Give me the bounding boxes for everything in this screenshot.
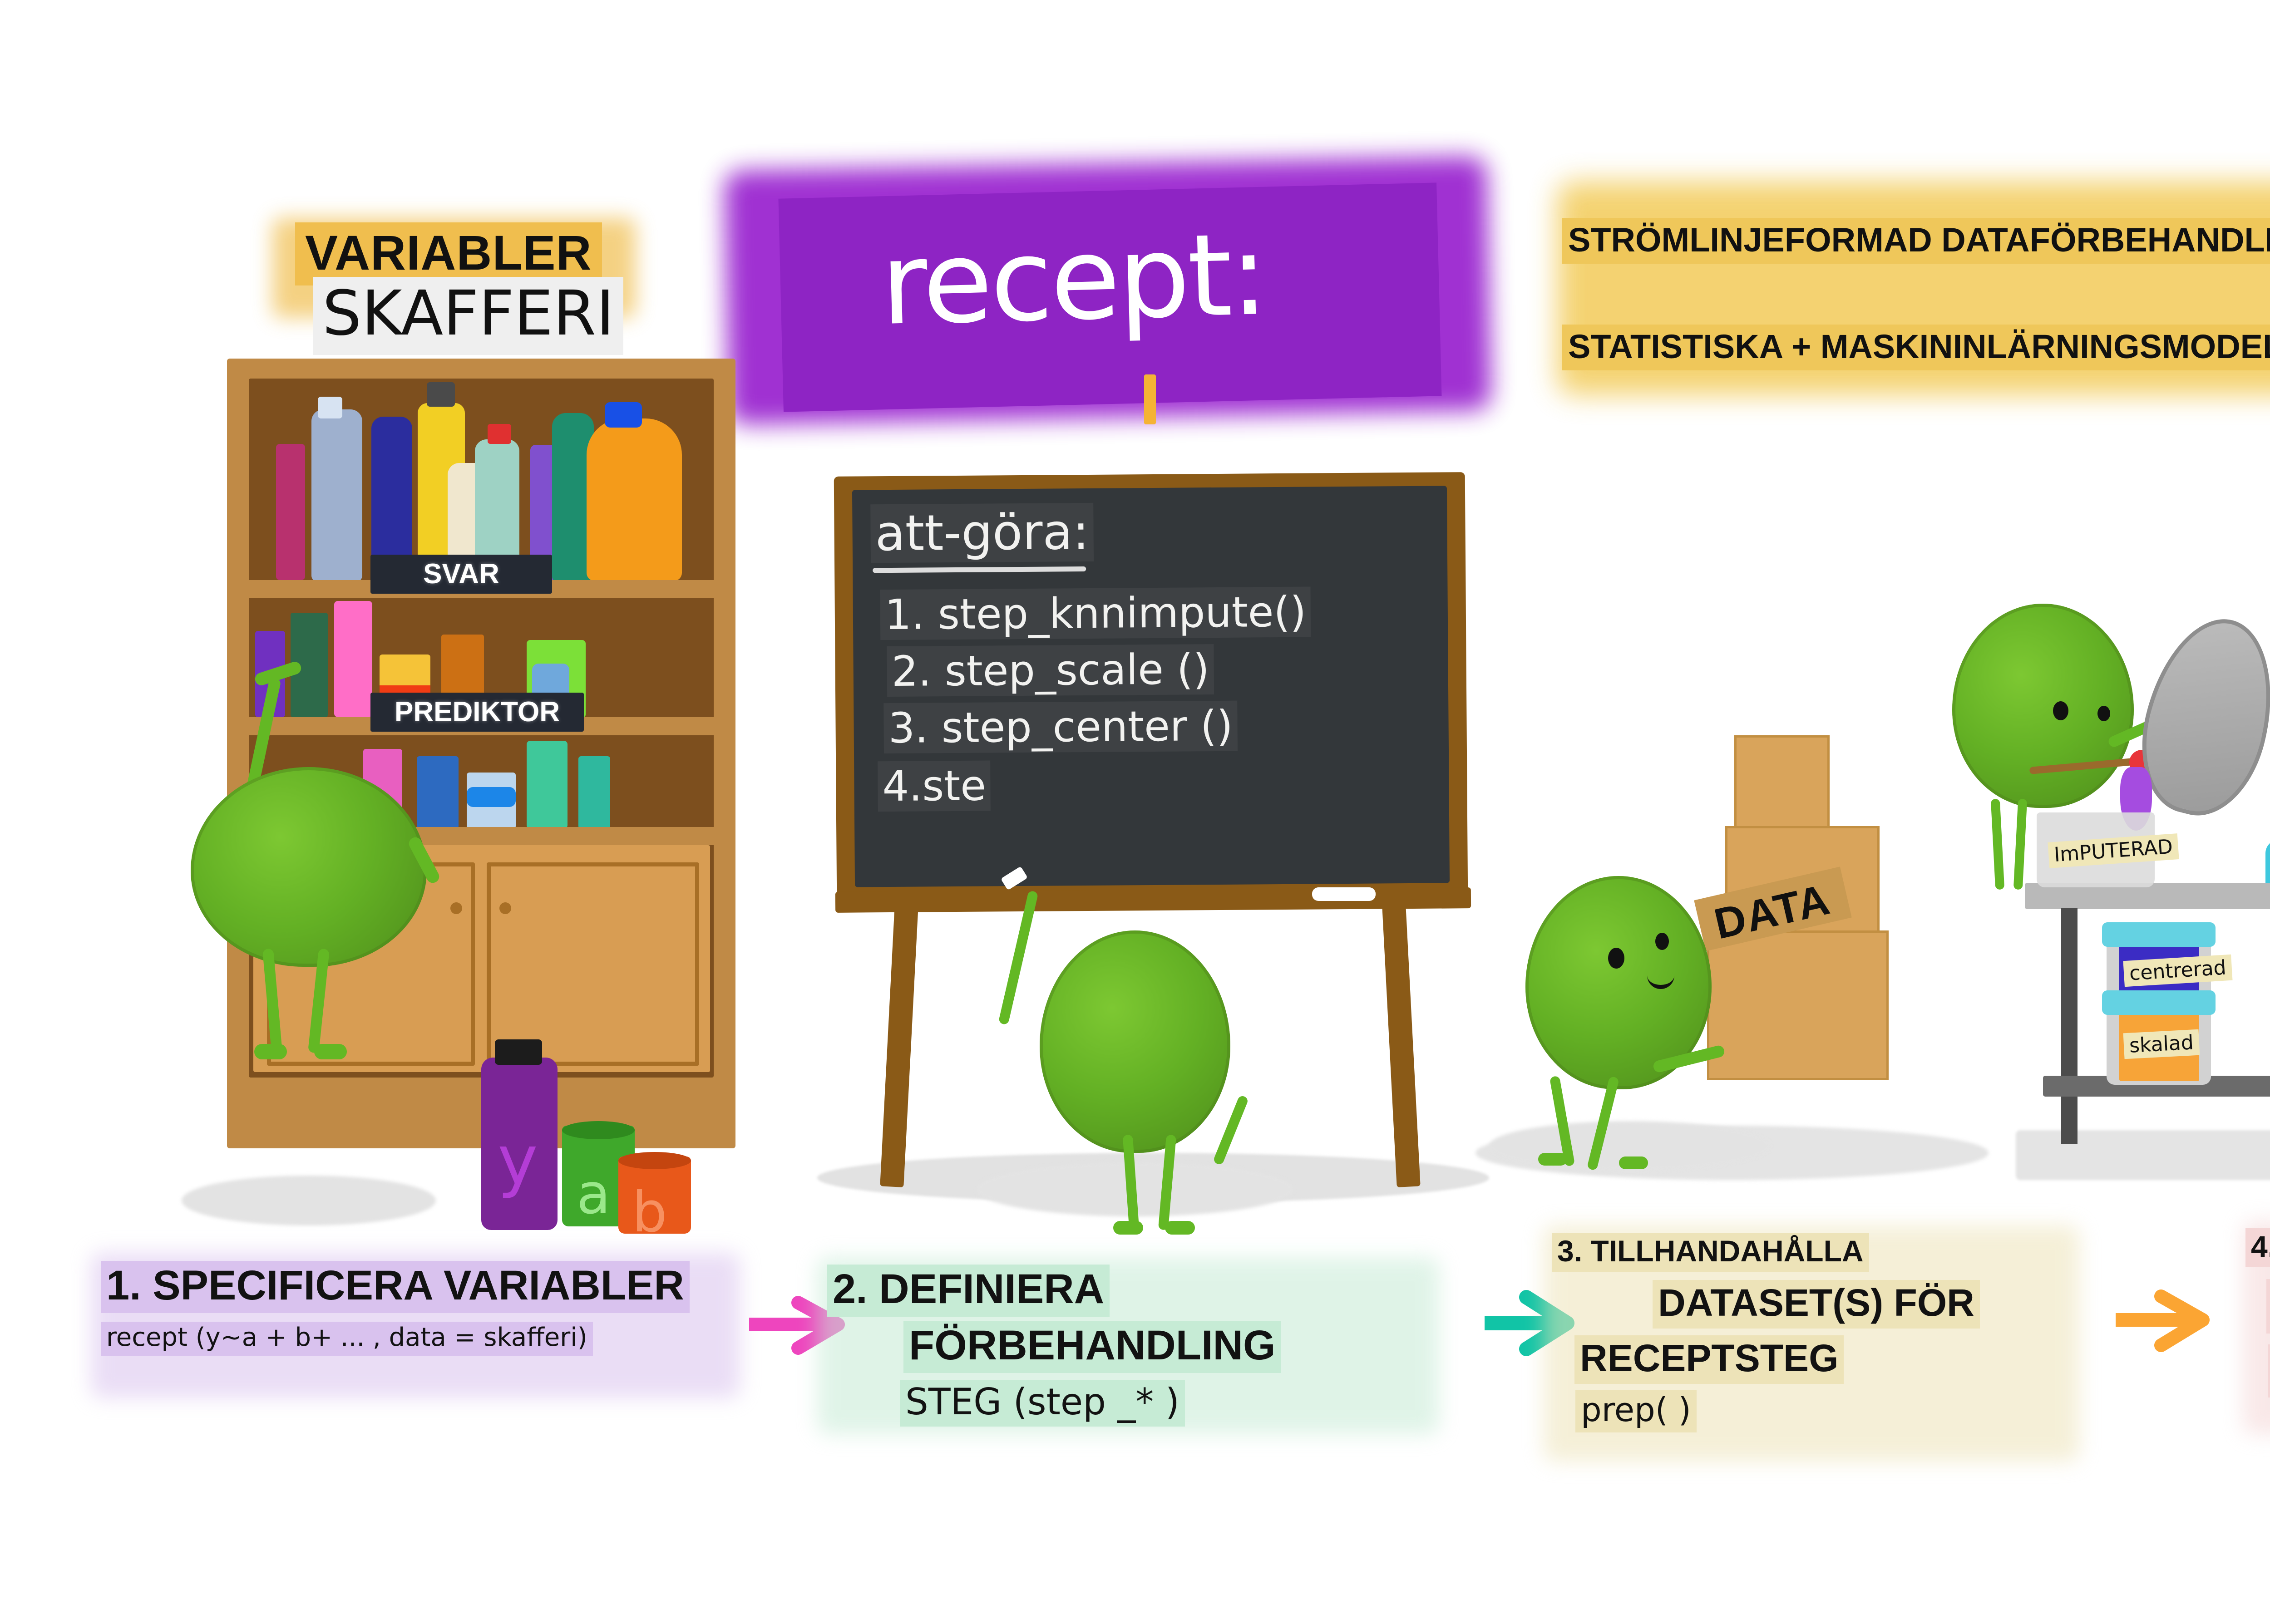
- monster-foot: [1113, 1221, 1143, 1235]
- floor-can-a-lid: [562, 1121, 635, 1139]
- data-box-bottom: [1707, 930, 1889, 1080]
- step-4-line-1: FÖRBEHANDLING!: [2266, 1279, 2270, 1334]
- tub-label-skalad: skalad: [2123, 1029, 2200, 1059]
- monster-eye: [1655, 933, 1669, 950]
- step-3-line-2: RECEPTSTEG: [1574, 1335, 1844, 1384]
- pantry-bottle-cap: [427, 382, 455, 407]
- monster-leg: [2013, 799, 2027, 890]
- floor-bottle-y-cap: [495, 1039, 542, 1065]
- floor-can-label-b: b: [632, 1180, 667, 1245]
- step-2-line-1: FÖRBEHANDLING: [903, 1321, 1281, 1373]
- pantry-item: [417, 756, 459, 829]
- pantry-sign-variabler: VARIABLER: [295, 222, 602, 285]
- monster-foot: [314, 1044, 347, 1059]
- pantry-bottle-cap: [318, 397, 342, 418]
- cabinet-knob[interactable]: [450, 902, 462, 914]
- counter-leg: [2061, 908, 2078, 1144]
- pantry-bottle-cap: [488, 424, 511, 444]
- pantry-bottle: [276, 444, 305, 580]
- monster-foot: [1538, 1153, 1567, 1166]
- blackboard-ledge: [835, 887, 1471, 913]
- monster-eye: [2097, 706, 2110, 721]
- cabinet-knob[interactable]: [499, 902, 511, 914]
- blackboard-eraser[interactable]: [1312, 887, 1376, 901]
- blackboard-item-1: 1. step_knnimpute(): [880, 587, 1311, 640]
- subtitle-line-2: STATISTISKA + MASKININLÄRNINGSMODELLER: [1562, 325, 2270, 370]
- pantry-bottle-cap: [605, 402, 642, 428]
- blackboard-leg: [1382, 896, 1420, 1187]
- floor-can-b-lid: [618, 1152, 691, 1169]
- step-3-title: 3. TILLHANDAHÅLLA: [1552, 1233, 1869, 1272]
- step-3-line-3: prep( ): [1575, 1390, 1697, 1432]
- blackboard-underline: [873, 566, 1086, 573]
- pantry-item: [467, 787, 516, 807]
- arrow-3-to-4: [2116, 1284, 2229, 1357]
- step-4-title: 4. TILLÄMPA: [2245, 1228, 2270, 1267]
- pantry-sign-skafferi: SKAFFERI: [313, 277, 623, 355]
- step-3-line-1: DATASET(S) FÖR: [1653, 1280, 1980, 1329]
- shelf-label-prediktor: PREDIKTOR: [370, 693, 584, 732]
- step-4-line-2: bake (): [2268, 1344, 2270, 1398]
- floor-can-label-a: a: [577, 1162, 611, 1226]
- pantry-item: [578, 756, 610, 829]
- monster-eye: [2053, 701, 2068, 720]
- monster-eye: [1608, 948, 1624, 969]
- tub-centrerad-lid: [2102, 922, 2216, 947]
- data-box-top: [1734, 735, 1830, 835]
- subtitle-line-1: STRÖMLINJEFORMAD DATAFÖRBEHANDLING FÖR: [1562, 218, 2270, 264]
- blackboard-surface[interactable]: att-göra: 1. step_knnimpute() 2. step_sc…: [852, 486, 1450, 887]
- monster-pantry: [191, 767, 427, 967]
- monster-kitchen: [1952, 604, 2134, 808]
- blackboard-leg: [880, 896, 918, 1187]
- floor-bottle-label-y: y: [498, 1121, 538, 1200]
- monster-shadow: [182, 1176, 436, 1225]
- step-2-title: 2. DEFINIERA: [827, 1265, 1110, 1317]
- pantry-item: [527, 741, 567, 829]
- blackboard-item-4: 4.ste: [878, 760, 991, 812]
- kitchen-shadow: [2016, 1130, 2270, 1180]
- pantry-item: [334, 601, 372, 717]
- monster-leg: [1991, 799, 2004, 890]
- pantry-bottle: [587, 418, 682, 581]
- blackboard-item-2: 2. step_scale (): [887, 644, 1214, 697]
- shelf-label-svar: SVAR: [370, 555, 552, 594]
- monster-blackboard: [1040, 930, 1230, 1153]
- pantry-cabinet: SVAR PREDIKTOR: [227, 359, 735, 1148]
- monster-foot: [254, 1044, 287, 1059]
- page-title: recept:: [879, 208, 1268, 350]
- blackboard-heading: att-göra:: [870, 503, 1094, 563]
- monster-foot: [1619, 1156, 1648, 1169]
- monster-foot: [1165, 1221, 1195, 1235]
- step-2-line-2: STEG (step _* ): [900, 1380, 1185, 1427]
- step-1-line-1: recept (y~a + b+ ... , data = skafferi): [101, 1322, 593, 1356]
- tub-skalad-lid: [2102, 990, 2216, 1015]
- blackboard-item-3: 3. step_center (): [883, 701, 1238, 753]
- title-pin: [1144, 374, 1156, 424]
- step-1-title: 1. SPECIFICERA VARIABLER: [101, 1261, 690, 1313]
- pantry-bottle: [311, 409, 362, 582]
- cabinet-door-right[interactable]: [487, 862, 699, 1066]
